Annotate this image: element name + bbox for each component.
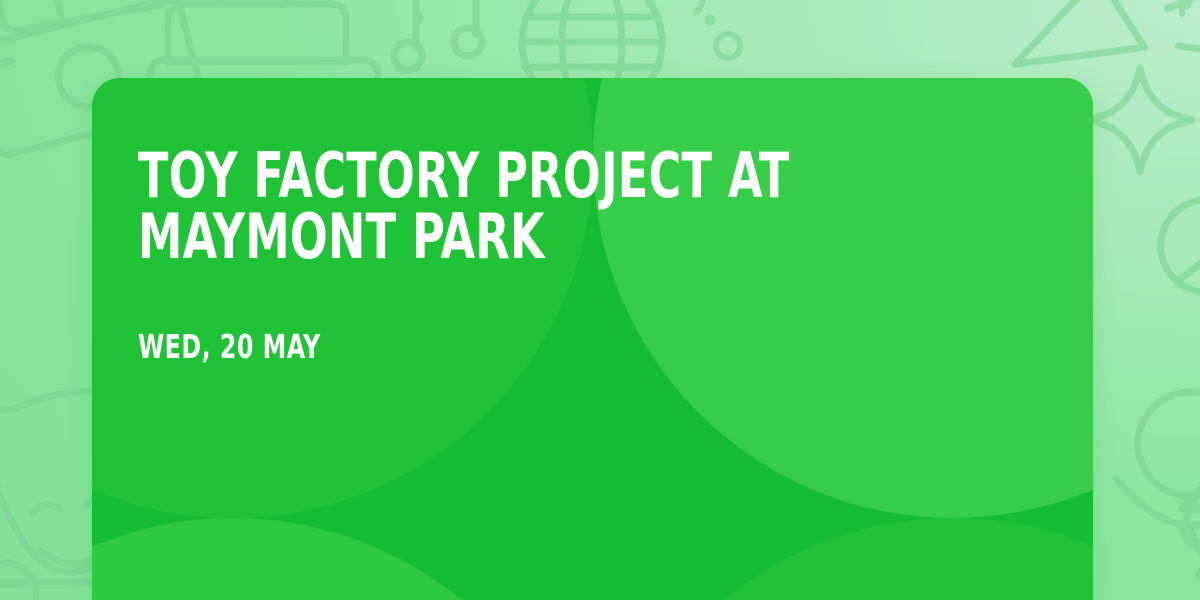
event-banner-page: Toy Factory Project at Maymont Park Wed,… (0, 0, 1200, 600)
sparkle-icon (1088, 68, 1192, 172)
microphone-icon (1142, 181, 1200, 346)
balloon-icon (1138, 392, 1200, 576)
music-note-icon (394, 0, 482, 70)
ticket-icon (0, 0, 172, 33)
petal-bottom-right (593, 518, 1093, 600)
confetti-swirl-icon (1116, 478, 1200, 568)
petal-bottom-left (92, 518, 593, 600)
card-content: Toy Factory Project at Maymont Park Wed,… (138, 146, 1053, 363)
event-title: Toy Factory Project at Maymont Park (138, 146, 1053, 268)
event-card[interactable]: Toy Factory Project at Maymont Park Wed,… (92, 78, 1093, 600)
event-date: Wed, 20 May (138, 330, 1053, 363)
